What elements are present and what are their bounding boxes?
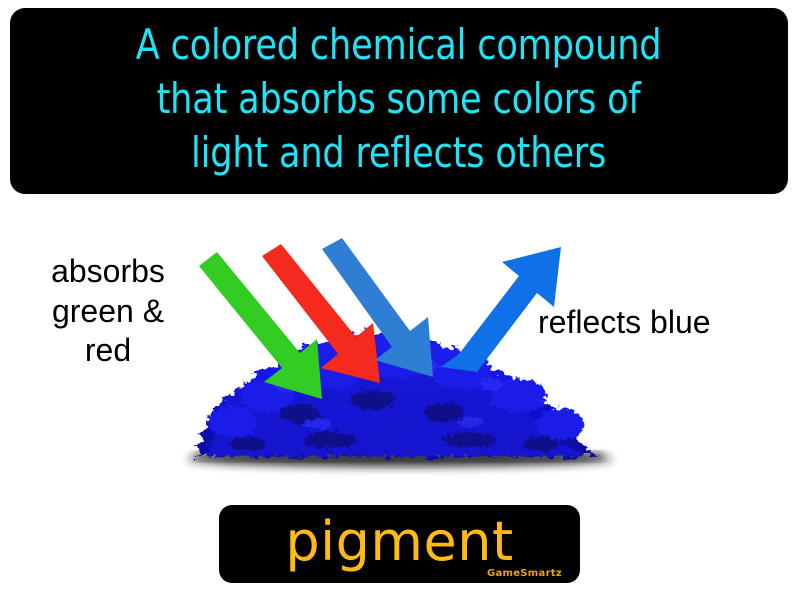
definition-banner: A colored chemical compound that absorbs… (10, 8, 788, 194)
definition-text: A colored chemical compound that absorbs… (136, 18, 662, 181)
label-absorbs-green-red: absorbs green & red (18, 252, 198, 371)
term-badge: pigment GameSmartz (219, 505, 580, 583)
watermark-gamesmartz: GameSmartz (487, 568, 562, 579)
definition-card: A colored chemical compound that absorbs… (0, 0, 800, 600)
term-label: pigment (285, 515, 513, 569)
illustration-area: absorbs green & red reflects blue (0, 200, 800, 490)
label-reflects-blue: reflects blue (538, 303, 796, 343)
